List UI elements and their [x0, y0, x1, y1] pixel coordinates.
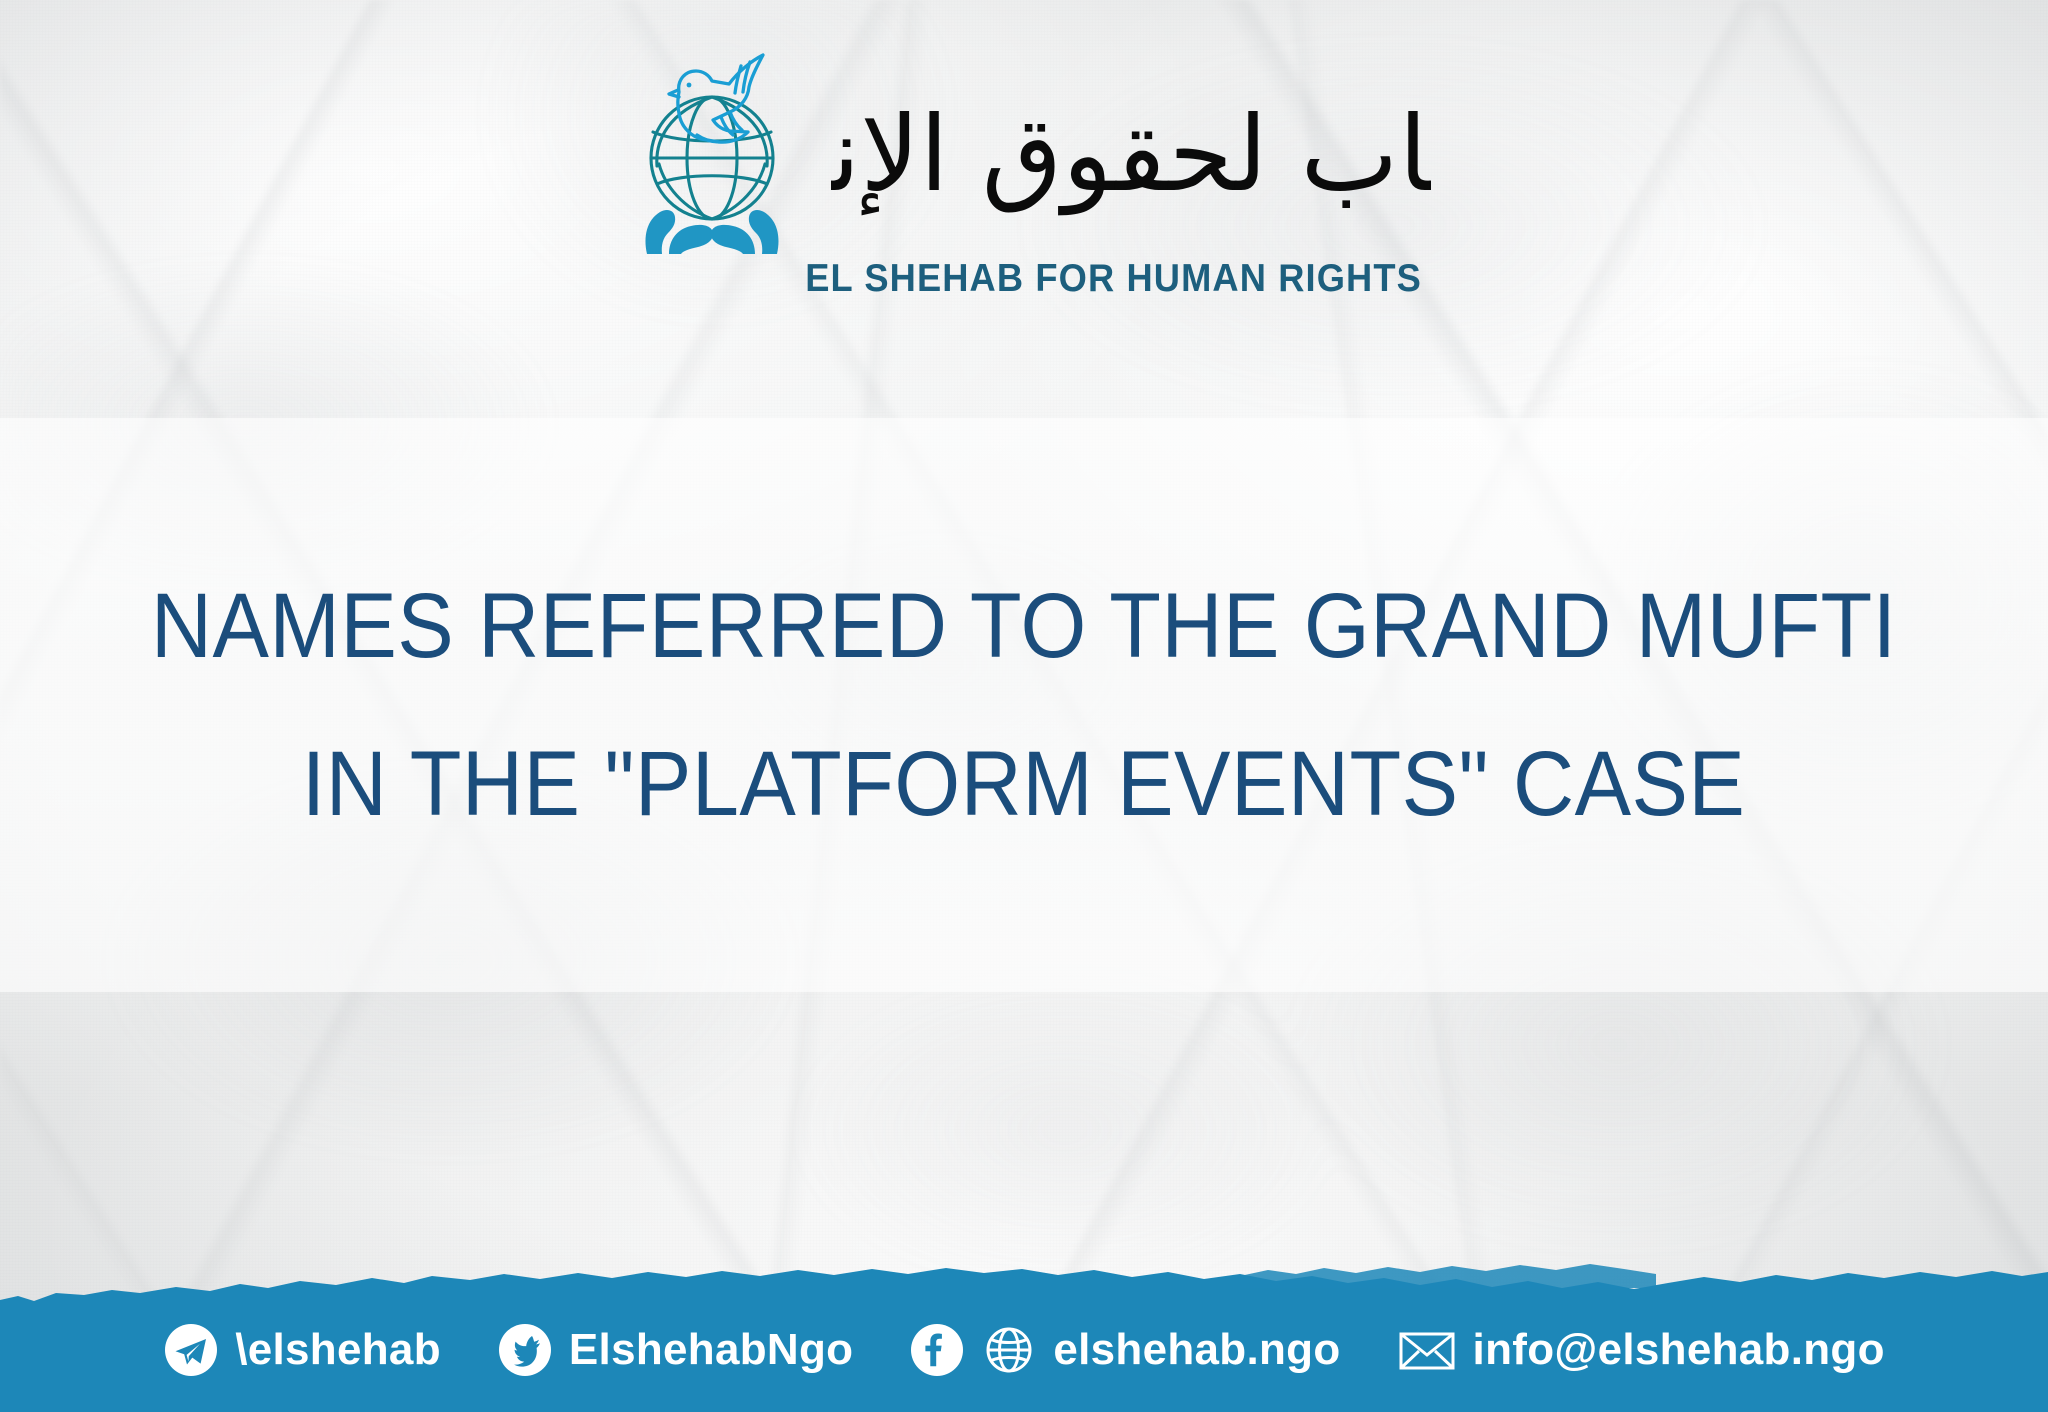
- title-line-1: NAMES REFERRED TO THE GRAND MUFTI: [151, 580, 1897, 672]
- contact-twitter-label: ElshehabNgo: [569, 1325, 853, 1375]
- globe-icon: [981, 1322, 1037, 1378]
- contact-telegram[interactable]: \elshehab: [163, 1322, 441, 1378]
- contact-email[interactable]: info@elshehab.ngo: [1397, 1325, 1885, 1375]
- footer-contact-list: \elshehab ElshehabNgo: [0, 1294, 2048, 1412]
- dove-globe-hands-logo-icon: [617, 40, 807, 255]
- email-icon: [1397, 1326, 1457, 1374]
- title-line-2: IN THE "PLATFORM EVENTS" CASE: [302, 738, 1746, 830]
- contact-telegram-label: \elshehab: [235, 1325, 441, 1375]
- svg-text:الشهاب لحقوق الإنسان: الشهاب لحقوق الإنسان: [831, 93, 1431, 216]
- logo-row: الشهاب لحقوق الإنسان: [617, 40, 1431, 255]
- poster-canvas: الشهاب لحقوق الإنسان EL SHEHAB FOR HUMAN…: [0, 0, 2048, 1412]
- footer-bar: \elshehab ElshehabNgo: [0, 1260, 2048, 1412]
- contact-twitter[interactable]: ElshehabNgo: [497, 1322, 853, 1378]
- organization-english-name: EL SHEHAB FOR HUMAN RIGHTS: [806, 257, 1423, 301]
- organization-logo-lockup: الشهاب لحقوق الإنسان EL SHEHAB FOR HUMAN…: [0, 40, 2048, 301]
- contact-website[interactable]: elshehab.ngo: [909, 1322, 1340, 1378]
- contact-website-label: elshehab.ngo: [1053, 1325, 1340, 1375]
- twitter-icon: [497, 1322, 553, 1378]
- arabic-wordmark: الشهاب لحقوق الإنسان: [831, 58, 1431, 238]
- facebook-icon: [909, 1322, 965, 1378]
- telegram-icon: [163, 1322, 219, 1378]
- contact-email-label: info@elshehab.ngo: [1473, 1325, 1885, 1375]
- main-title: NAMES REFERRED TO THE GRAND MUFTI IN THE…: [0, 418, 2048, 992]
